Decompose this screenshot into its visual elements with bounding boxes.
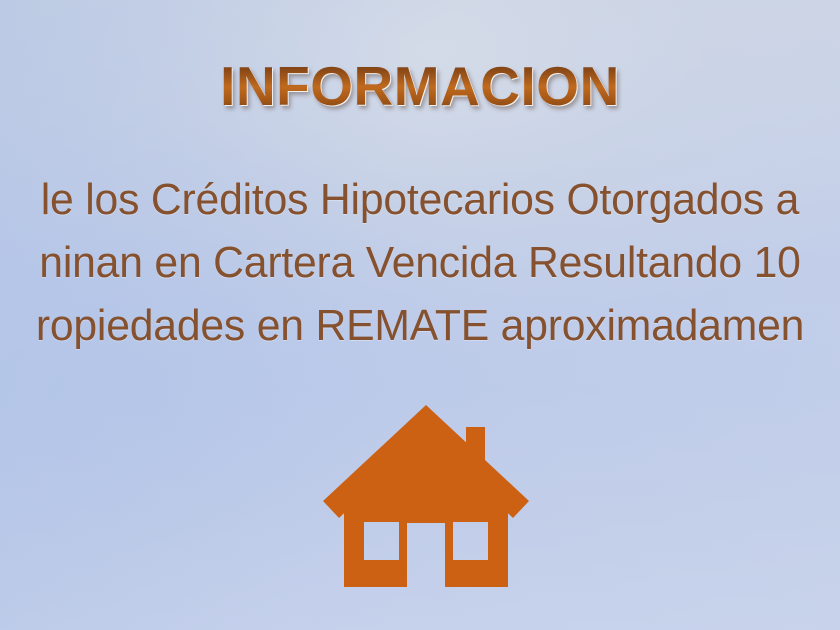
slide-canvas: INFORMACION le los Créditos Hipotecarios… — [0, 0, 840, 630]
slide-title: INFORMACION — [0, 58, 840, 116]
house-icon — [323, 405, 529, 595]
body-line-2: ninan en Cartera Vencida Resultando 10 — [13, 231, 828, 294]
house-icon-graphic — [323, 405, 529, 595]
slide-body-text: le los Créditos Hipotecarios Otorgados a… — [0, 168, 840, 357]
body-line-3: ropiedades en REMATE aproximadamen — [13, 294, 828, 357]
body-line-1: le los Créditos Hipotecarios Otorgados a — [13, 168, 828, 231]
